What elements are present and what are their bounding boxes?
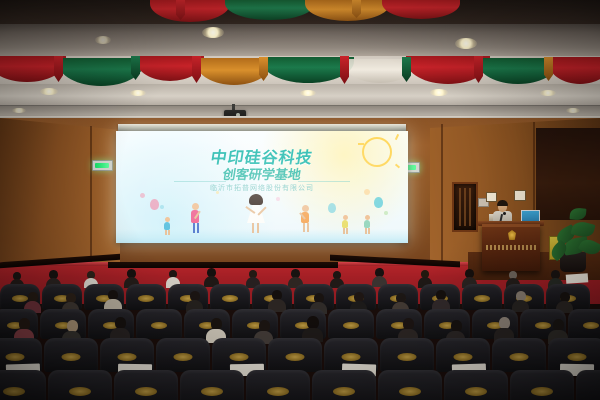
seat-emblem-icon — [230, 353, 249, 361]
seat-rim — [41, 335, 101, 355]
microphone-head — [503, 212, 506, 215]
seat-emblem-icon — [333, 387, 355, 396]
seat-emblem-icon — [474, 295, 490, 302]
seat-emblem-icon — [174, 353, 193, 361]
theater-seat[interactable] — [378, 370, 442, 400]
seat-rim — [0, 335, 45, 355]
seat-emblem-icon — [6, 353, 25, 361]
ceiling-light-9 — [12, 108, 26, 113]
ceiling-light-4 — [40, 88, 58, 95]
seat-emblem-icon — [531, 387, 553, 396]
framed-photo-2 — [514, 190, 526, 201]
seat-emblem-icon — [135, 387, 157, 396]
theater-seat[interactable] — [576, 370, 600, 400]
ceiling-light-6 — [300, 90, 316, 96]
seat-emblem-icon — [267, 387, 289, 396]
seat-rim — [433, 335, 493, 355]
child-body — [164, 222, 170, 230]
child-leg — [252, 223, 254, 233]
cartoon-child-4 — [298, 205, 312, 233]
slide-rule-left — [174, 181, 226, 182]
seat-emblem-icon — [568, 353, 587, 361]
confetti-dot — [384, 211, 388, 215]
seat-emblem-icon — [201, 387, 223, 396]
ceiling-light-10 — [566, 108, 580, 113]
theater-seat[interactable] — [136, 309, 182, 339]
child-leg — [368, 228, 370, 234]
cartoon-child-2 — [188, 203, 202, 233]
cartoon-child-6 — [362, 215, 372, 234]
confetti-dot — [216, 191, 219, 194]
seat-emblem-icon — [342, 353, 361, 361]
theater-seat[interactable] — [180, 370, 244, 400]
seat-rim — [97, 335, 157, 355]
seat-emblem-icon — [398, 353, 417, 361]
projection-screen: 中印硅谷科技 创客研学基地 临沂市拓普网络股份有限公司 — [116, 131, 408, 243]
theater-seat[interactable] — [210, 284, 250, 310]
slide-subtitle: 创客研学基地 — [116, 164, 408, 183]
child-hair — [249, 194, 263, 205]
niche-bar-3 — [469, 188, 471, 226]
confetti-dot — [160, 205, 164, 209]
seat-emblem-icon — [454, 353, 473, 361]
child-leg — [346, 228, 348, 234]
seat-rim — [489, 335, 549, 355]
seat-emblem-icon — [62, 353, 81, 361]
seat-emblem-icon — [222, 295, 238, 302]
podium-nameplate-text — [486, 245, 536, 250]
theater-seat[interactable] — [114, 370, 178, 400]
seat-emblem-icon — [69, 387, 91, 396]
child-head — [302, 205, 309, 212]
cartoon-child-5 — [340, 215, 350, 234]
theater-seat[interactable] — [44, 338, 98, 372]
theater-seat[interactable] — [126, 284, 166, 310]
theater-seat[interactable] — [156, 338, 210, 372]
theater-seat[interactable] — [568, 309, 600, 339]
theater-seat[interactable] — [380, 338, 434, 372]
niche-bar-2 — [464, 188, 466, 226]
seat-rim — [377, 335, 437, 355]
confetti-dot — [364, 189, 370, 195]
theater-seat[interactable] — [510, 370, 574, 400]
theater-seat[interactable] — [246, 370, 310, 400]
theater-seat[interactable] — [328, 309, 374, 339]
child-leg — [193, 223, 195, 233]
cartoon-child-3 — [242, 195, 268, 233]
confetti-dot — [276, 197, 280, 201]
theater-seat[interactable] — [462, 284, 502, 310]
balloon-teal — [374, 197, 383, 208]
child-leg — [365, 228, 367, 234]
seat-rim — [209, 335, 269, 355]
child-leg — [257, 223, 259, 233]
child-leg — [168, 230, 170, 235]
theater-seat[interactable] — [312, 370, 376, 400]
speaker-hair — [497, 200, 508, 206]
child-leg — [197, 223, 199, 233]
seat-emblem-icon — [583, 322, 599, 329]
ceiling-light-7 — [430, 89, 448, 96]
auditorium-scene: 中印硅谷科技 创客研学基地 临沂市拓普网络股份有限公司 — [0, 0, 600, 400]
seat-rim — [153, 335, 213, 355]
child-head — [192, 203, 199, 210]
seat-rim — [545, 335, 600, 355]
left-exit-sign — [92, 160, 113, 171]
wall-seam-left — [90, 126, 92, 266]
ceiling-light-1 — [202, 27, 224, 38]
seat-emblem-icon — [138, 295, 154, 302]
framed-photo-1 — [486, 192, 497, 202]
theater-seat[interactable] — [268, 338, 322, 372]
right-wall-recess — [536, 128, 600, 220]
cartoon-child-1 — [162, 217, 172, 235]
niche-bar-1 — [459, 188, 461, 226]
child-leg — [343, 228, 345, 234]
child-leg — [165, 230, 167, 235]
theater-seat[interactable] — [48, 370, 112, 400]
audience-seating-area — [0, 268, 600, 400]
seat-rim — [321, 335, 381, 355]
ceiling-soffit-upper — [0, 24, 600, 58]
left-wall — [0, 118, 120, 270]
ceiling-light-2 — [455, 38, 477, 49]
seat-emblem-icon — [465, 387, 487, 396]
screen-valance — [118, 124, 406, 131]
exit-sign-glow — [95, 163, 109, 168]
theater-seat[interactable] — [444, 370, 508, 400]
seat-emblem-icon — [118, 353, 137, 361]
confetti-dot — [140, 193, 145, 198]
seat-emblem-icon — [399, 387, 421, 396]
child-leg — [303, 223, 305, 232]
balloon-pink — [150, 199, 159, 210]
ceiling-light-3 — [95, 36, 111, 44]
balloon-blue — [328, 203, 336, 213]
wall-seam-right — [441, 124, 443, 264]
seat-emblem-icon — [286, 353, 305, 361]
wall-niche-panel — [452, 182, 478, 232]
seat-emblem-icon — [151, 322, 167, 329]
child-body — [342, 220, 348, 228]
ceiling-light-8 — [540, 90, 556, 96]
seat-emblem-icon — [510, 353, 529, 361]
seat-emblem-icon — [3, 387, 25, 396]
slide-rule-right — [298, 181, 350, 182]
child-leg — [307, 223, 309, 232]
theater-seat[interactable] — [0, 370, 46, 400]
seat-rim — [265, 335, 325, 355]
child-body — [364, 220, 370, 228]
seat-emblem-icon — [343, 322, 359, 329]
ceiling-light-5 — [130, 90, 146, 96]
theater-seat[interactable] — [492, 338, 546, 372]
